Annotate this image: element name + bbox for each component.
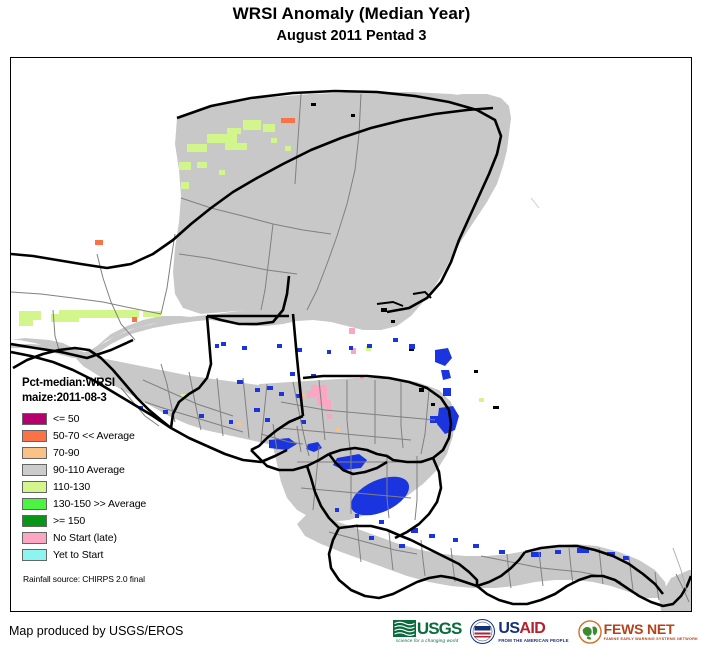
- usaid-word-us: US: [498, 620, 519, 637]
- legend-label: >= 150: [53, 515, 85, 527]
- legend-row: 90-110 Average: [19, 461, 209, 478]
- legend-row: 70-90: [19, 444, 209, 461]
- usaid-tagline: FROM THE AMERICAN PEOPLE: [498, 638, 568, 643]
- legend-header-line1: Pct-median:WRSI: [19, 376, 209, 391]
- legend-header-line2: maize:2011-08-3: [19, 391, 209, 406]
- legend-swatch: [22, 430, 47, 442]
- map-frame[interactable]: Pct-median:WRSI maize:2011-08-3 <= 5050-…: [10, 57, 692, 612]
- rainfall-source-note: Rainfall source: CHIRPS 2.0 final: [19, 574, 209, 584]
- legend-swatch: [22, 464, 47, 476]
- legend-swatch: [22, 447, 47, 459]
- legend-label: 110-130: [53, 481, 90, 493]
- legend-swatch: [22, 498, 47, 510]
- legend-row: No Start (late): [19, 529, 209, 546]
- usgs-wave-icon: [393, 620, 416, 637]
- legend-swatch: [22, 532, 47, 544]
- legend-rows: <= 5050-70 << Average70-9090-110 Average…: [19, 410, 209, 563]
- footer: Map produced by USGS/EROS USGS science f…: [0, 614, 703, 662]
- usaid-seal-icon: [470, 619, 495, 644]
- usaid-word-aid: AID: [519, 620, 545, 637]
- fews-net-logo: FEWS NET FAMINE EARLY WARNING SYSTEMS NE…: [578, 620, 698, 644]
- fews-net-wordmark: FEWS NET: [604, 622, 698, 636]
- title-block: WRSI Anomaly (Median Year) August 2011 P…: [0, 0, 703, 45]
- legend-swatch: [22, 481, 47, 493]
- legend-swatch: [22, 515, 47, 527]
- legend-row: <= 50: [19, 410, 209, 427]
- legend-label: Yet to Start: [53, 549, 103, 561]
- globe-icon: [578, 620, 602, 644]
- page-subtitle: August 2011 Pentad 3: [0, 27, 703, 45]
- legend-label: 70-90: [53, 447, 79, 459]
- map-credit: Map produced by USGS/EROS: [9, 624, 183, 638]
- usaid-logo: USAID FROM THE AMERICAN PEOPLE: [470, 619, 568, 644]
- usaid-wordmark: USAID: [498, 621, 568, 637]
- page-title: WRSI Anomaly (Median Year): [0, 4, 703, 24]
- usgs-wordmark: USGS: [417, 620, 462, 637]
- legend-label: No Start (late): [53, 532, 117, 544]
- legend-row: 110-130: [19, 478, 209, 495]
- legend-label: 50-70 << Average: [53, 430, 135, 442]
- legend-label: <= 50: [53, 413, 79, 425]
- usgs-logo: USGS science for a changing world: [393, 620, 462, 643]
- legend-label: 90-110 Average: [53, 464, 125, 476]
- legend: Pct-median:WRSI maize:2011-08-3 <= 5050-…: [19, 376, 209, 584]
- logo-bar: USGS science for a changing world USAID …: [393, 619, 698, 644]
- legend-row: 130-150 >> Average: [19, 495, 209, 512]
- legend-swatch: [22, 549, 47, 561]
- fews-net-tagline: FAMINE EARLY WARNING SYSTEMS NETWORK: [604, 637, 698, 641]
- legend-row: Yet to Start: [19, 546, 209, 563]
- legend-swatch: [22, 413, 47, 425]
- legend-label: 130-150 >> Average: [53, 498, 146, 510]
- legend-row: 50-70 << Average: [19, 427, 209, 444]
- usgs-tagline: science for a changing world: [396, 638, 458, 643]
- legend-row: >= 150: [19, 512, 209, 529]
